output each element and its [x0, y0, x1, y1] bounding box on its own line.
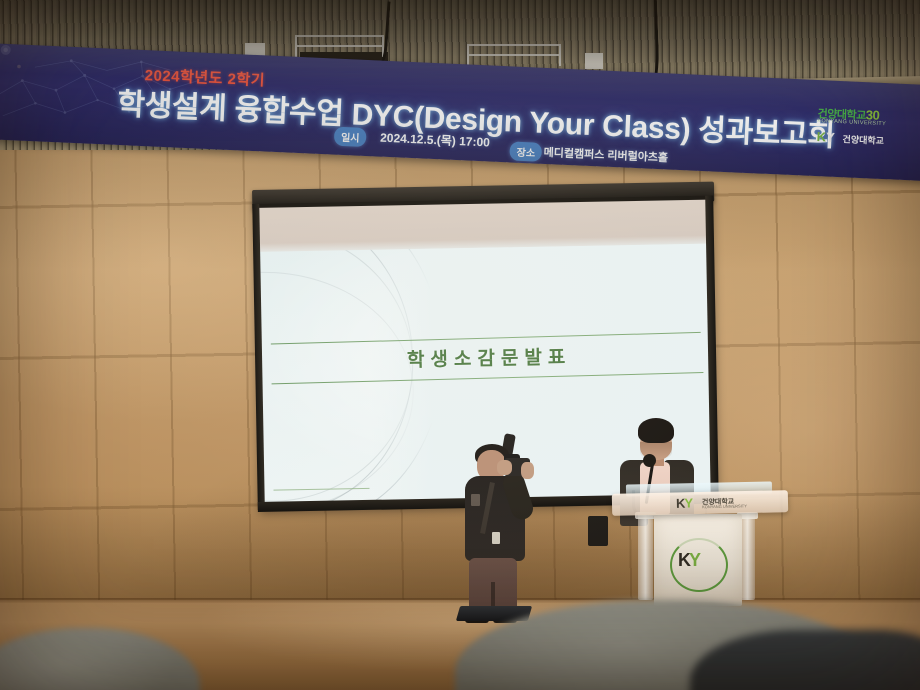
photographer-hand-right	[521, 462, 534, 479]
photographer-hand-left	[497, 460, 512, 475]
podium-ky-mark-icon: KY	[676, 496, 692, 511]
podium-emblem-letters: KY	[678, 550, 699, 571]
podium-logo-y: Y	[684, 496, 692, 511]
podium-emblem: KY	[670, 538, 726, 590]
id-badge	[492, 532, 500, 544]
jacket-patch	[471, 494, 480, 506]
podium-logo: KY 건양대학교 KONYANG UNIVERSITY	[676, 494, 756, 512]
speaker-hair	[638, 418, 674, 443]
microphone-icon	[643, 454, 656, 467]
photographer-person	[455, 432, 565, 622]
podium-column-right	[740, 512, 755, 600]
podium-university-sub: KONYANG UNIVERSITY	[702, 503, 747, 509]
podium-column-left	[638, 512, 653, 600]
podium-emblem-y: Y	[689, 550, 699, 570]
auditorium-photo: 2024학년도 2학기 학생설계 융합수업 DYC(Design Your Cl…	[0, 0, 920, 690]
podium-emblem-k: K	[678, 550, 689, 570]
podium-equipment-box	[588, 516, 608, 546]
